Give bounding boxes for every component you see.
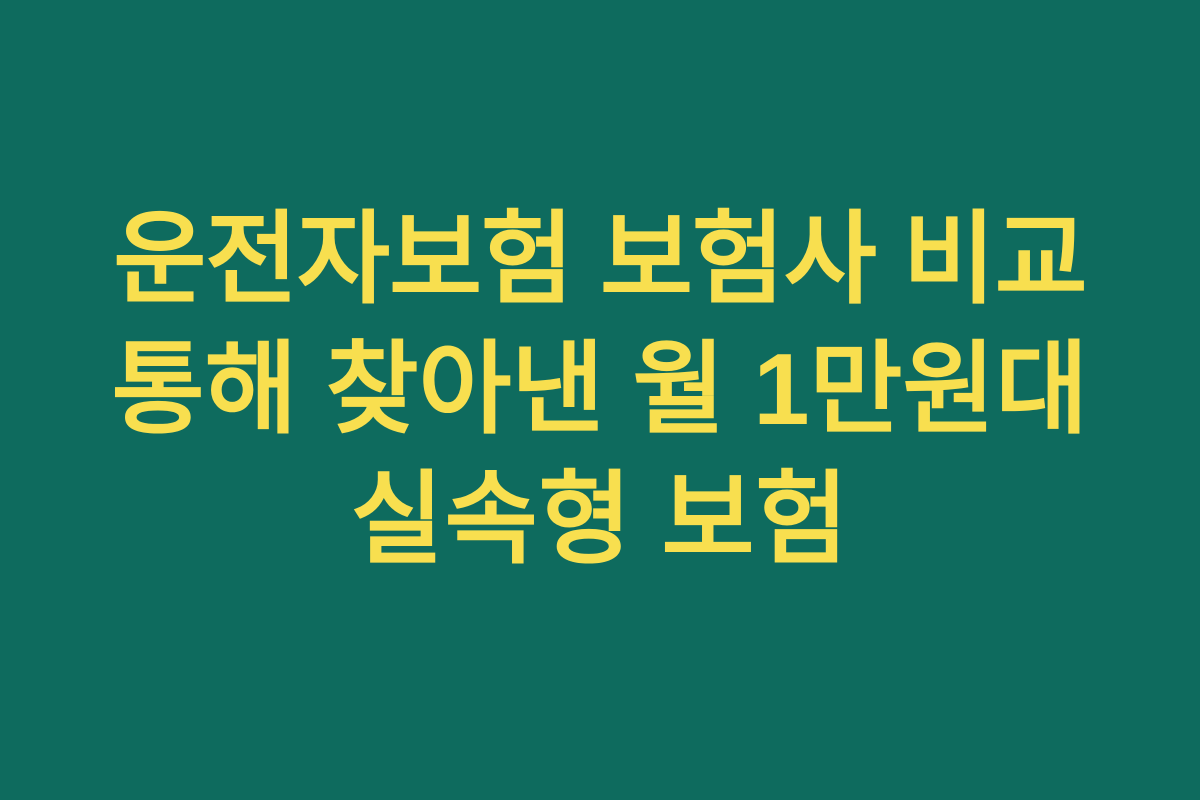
page-title: 운전자보험 보험사 비교 통해 찾아낸 월 1만원대 실속형 보험 (0, 195, 1200, 585)
banner-canvas: 운전자보험 보험사 비교 통해 찾아낸 월 1만원대 실속형 보험 (0, 0, 1200, 800)
headline-line-1: 운전자보험 보험사 비교 (40, 195, 1160, 325)
headline-line-3: 실속형 보험 (40, 455, 1160, 585)
headline-line-2: 통해 찾아낸 월 1만원대 (40, 325, 1160, 455)
